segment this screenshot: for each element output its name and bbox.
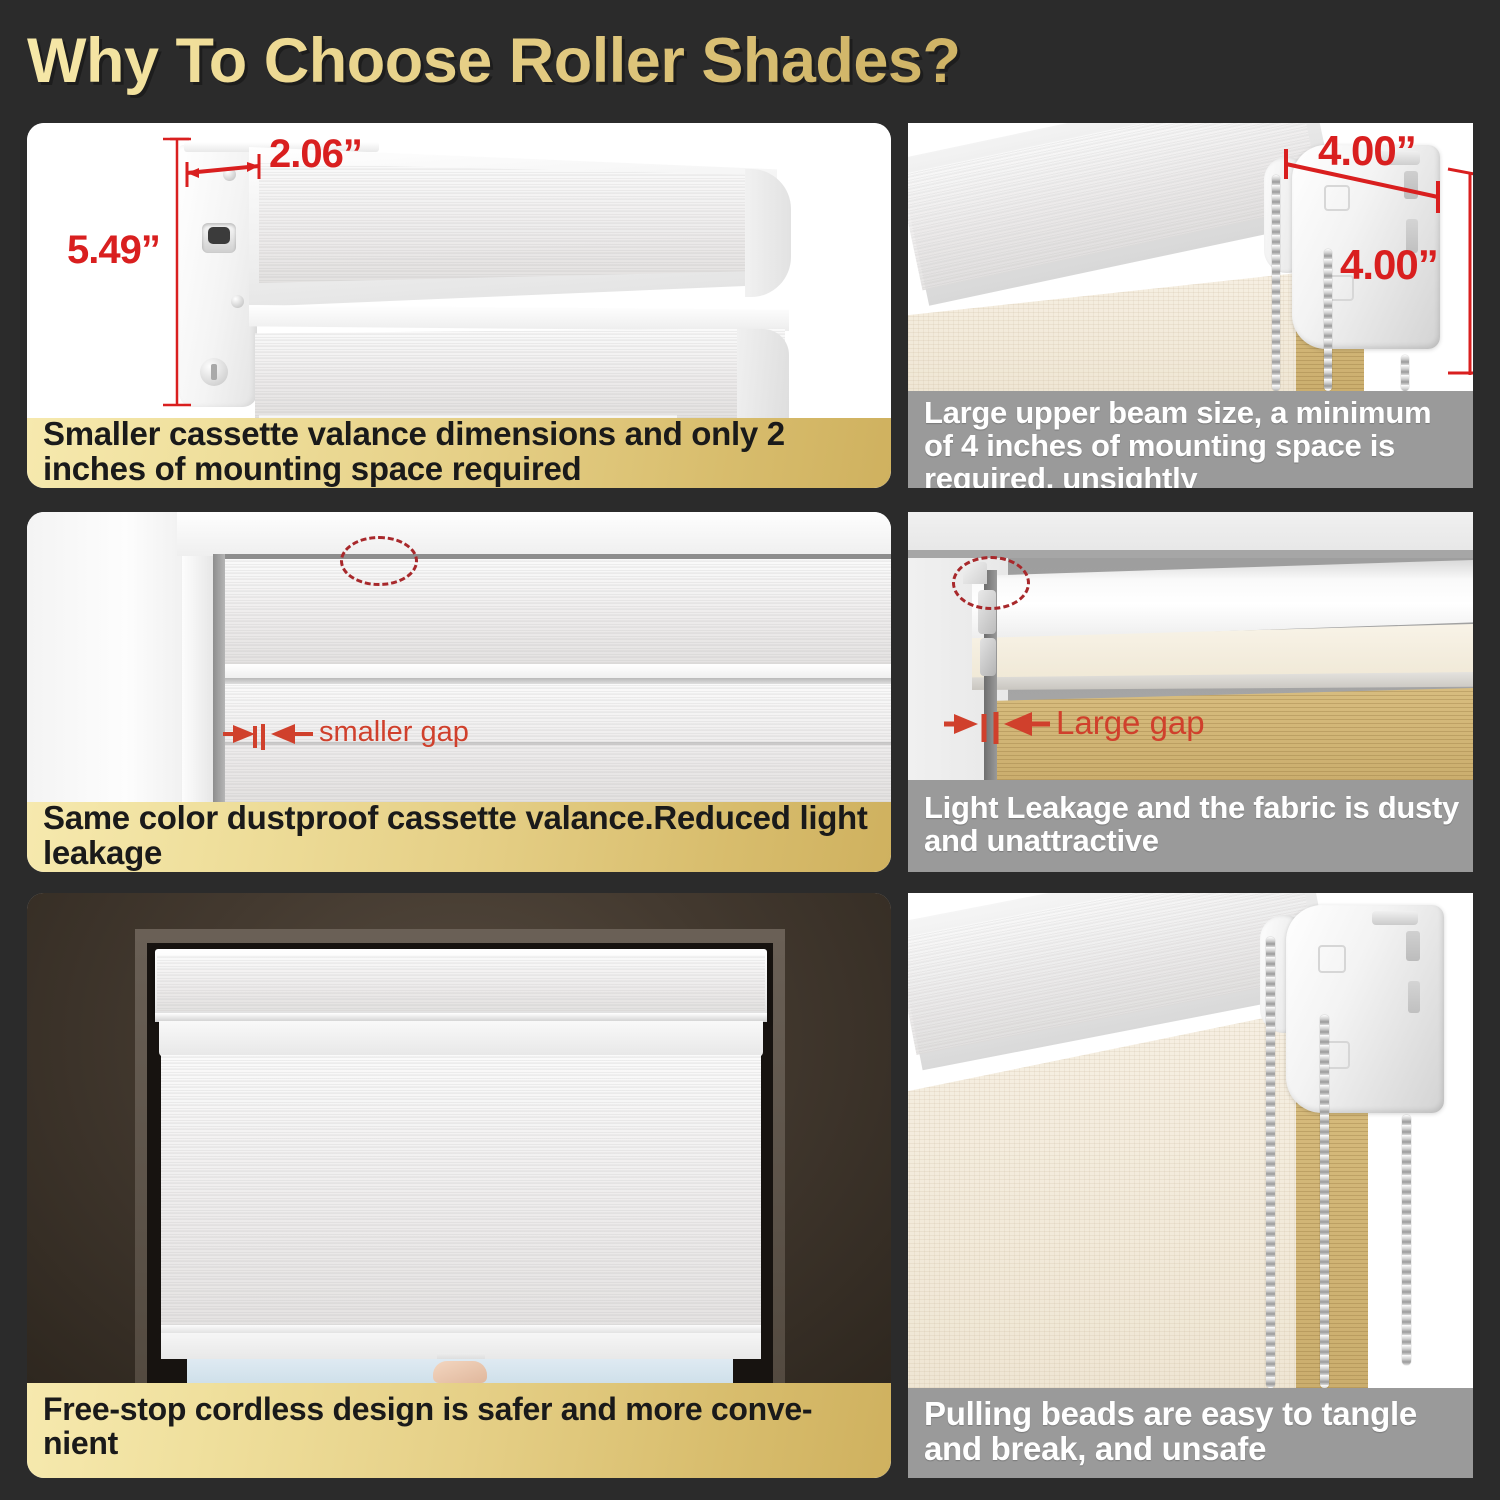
panel-1-caption: Smaller cassette valance dimensions and … <box>27 418 891 488</box>
annotation-large-gap: Large gap <box>1056 704 1205 742</box>
panel-3-caption: Same color dustproof cassette valance.Re… <box>27 802 891 872</box>
bead-chain-photo <box>908 893 1473 1388</box>
bead-chain <box>1266 937 1275 1388</box>
panel-2-caption: Large upper beam size, a minimum of 4 in… <box>908 391 1473 488</box>
panel-dustproof-valance: smaller gap Same color dustproof cassett… <box>27 512 891 872</box>
annotation-height-4-00: 4.00” <box>1340 241 1438 289</box>
panel-5-caption-text: Free-stop cordless design is safer and m… <box>43 1393 877 1461</box>
panel-5-caption: Free-stop cordless design is safer and m… <box>27 1383 891 1478</box>
panel-cordless-design: Free-stop cordless design is safer and m… <box>27 893 891 1478</box>
panel-light-leakage: Large gap Light Leakage and the fabric i… <box>908 512 1473 872</box>
light-leakage-photo: Large gap <box>908 512 1473 780</box>
panel-4-caption: Light Leakage and the fabric is dusty an… <box>908 780 1473 872</box>
panel-large-upper-beam: 4.00” 4.00” Large upper beam size, a min… <box>908 123 1473 488</box>
panel-3-caption-text: Same color dustproof cassette valance.Re… <box>43 801 877 871</box>
dustproof-valance-photo: smaller gap <box>27 512 891 802</box>
hand <box>433 1361 487 1383</box>
cassette-valance-photo: 2.06” 5.49” <box>27 123 891 418</box>
window-shade-room-photo <box>27 893 891 1383</box>
panel-smaller-cassette: 2.06” 5.49” Smaller cassette valance dim… <box>27 123 891 488</box>
shade-fabric <box>161 1055 761 1345</box>
roller-bracket <box>1286 905 1444 1113</box>
panel-6-caption: Pulling beads are easy to tangle and bre… <box>908 1388 1473 1478</box>
annotation-width-4-00: 4.00” <box>1318 127 1416 175</box>
panel-1-caption-text: Smaller cassette valance dimensions and … <box>43 417 877 487</box>
bead-chain <box>1402 1115 1411 1365</box>
panel-2-caption-text: Large upper beam size, a minimum of 4 in… <box>924 397 1459 488</box>
cream-fabric <box>908 1011 1298 1388</box>
large-beam-photo: 4.00” 4.00” <box>908 123 1473 391</box>
gap-arrows <box>27 512 891 802</box>
annotation-smaller-gap: smaller gap <box>319 716 469 749</box>
page-title: Why To Choose Roller Shades? <box>27 18 1227 104</box>
bead-chain <box>1320 1015 1329 1388</box>
annotation-width-2-06: 2.06” <box>269 132 362 177</box>
panel-4-caption-text: Light Leakage and the fabric is dusty an… <box>924 792 1459 858</box>
panel-pulling-beads: Pulling beads are easy to tangle and bre… <box>908 893 1473 1478</box>
panel-6-caption-text: Pulling beads are easy to tangle and bre… <box>924 1397 1459 1467</box>
annotation-height-5-49: 5.49” <box>67 228 160 273</box>
